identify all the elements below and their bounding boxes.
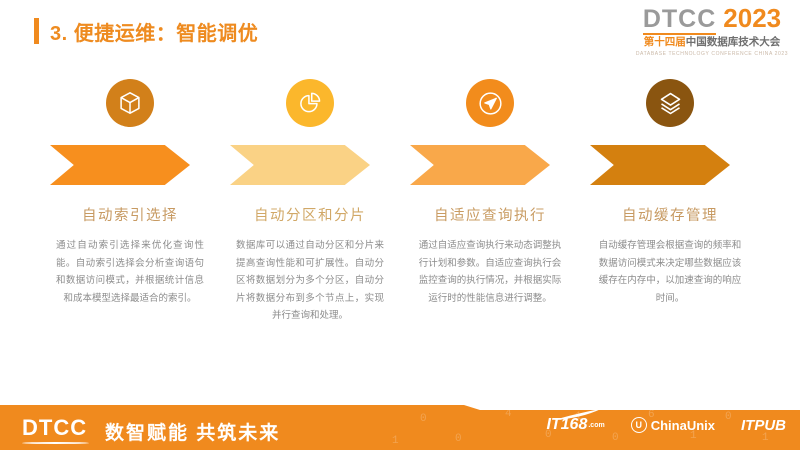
footer-notch	[0, 405, 800, 410]
title-accent-bar	[34, 18, 39, 44]
chinaunix-logo-text: ChinaUnix	[651, 418, 715, 433]
feature-column: 自动缓存管理 自动缓存管理会根据查询的频率和数据访问模式来决定哪些数据应该缓存在…	[590, 72, 750, 325]
chevron-container	[230, 134, 390, 196]
cube-icon	[106, 79, 154, 127]
conference-year: 2023	[723, 5, 781, 31]
paper-plane-icon	[466, 79, 514, 127]
footer-decor-digit: 1	[392, 435, 399, 447]
it168-logo[interactable]: IT168 .com	[546, 416, 604, 434]
chevron-arrow	[590, 145, 730, 185]
slide-root: 3. 便捷运维：智能调优 DTCC 2023 第十四届中国数据库技术大会 DAT…	[0, 0, 800, 450]
feature-body: 通过自动索引选择来优化查询性能。自动索引选择会分析查询语句和数据访问模式，并根据…	[50, 237, 210, 307]
footer-slogan: 数智赋能 共筑未来	[105, 418, 280, 445]
chevron-arrow	[50, 145, 190, 185]
conference-subtitle-prefix: 第十四届	[644, 36, 686, 48]
it168-swoosh-icon	[554, 409, 602, 421]
feature-title: 自动缓存管理	[590, 204, 750, 225]
chevron-container	[410, 134, 570, 196]
icon-container	[50, 72, 210, 134]
feature-body: 数据库可以通过自动分区和分片来提高查询性能和可扩展性。自动分区将数据划分为多个分…	[230, 237, 390, 325]
footer-brand: DTCC	[22, 417, 87, 439]
conference-logo: DTCC 2023 第十四届中国数据库技术大会 DATABASE TECHNOL…	[632, 5, 792, 57]
feature-columns: 自动索引选择 通过自动索引选择来优化查询性能。自动索引选择会分析查询语句和数据访…	[0, 72, 800, 325]
footer-decor-digit: 0	[420, 413, 427, 425]
conference-subtitle: 第十四届中国数据库技术大会	[632, 37, 792, 49]
conference-subtitle-main: 中国数据库技术大会	[686, 36, 781, 48]
chevron-arrow	[230, 145, 370, 185]
conference-english-subtitle: DATABASE TECHNOLOGY CONFERENCE CHINA 202…	[632, 51, 792, 57]
feature-title: 自动索引选择	[50, 204, 210, 225]
it168-logo-suffix: .com	[588, 422, 604, 429]
conference-brand: DTCC	[643, 7, 716, 32]
feature-body: 通过自适应查询执行来动态调整执行计划和参数。自适应查询执行会监控查询的执行情况，…	[410, 237, 570, 307]
icon-container	[410, 72, 570, 134]
conference-logo-main: DTCC 2023	[632, 5, 792, 32]
chevron-container	[590, 134, 750, 196]
feature-title: 自动分区和分片	[230, 204, 390, 225]
page-title-text: 3. 便捷运维：智能调优	[50, 17, 258, 46]
page-title: 3. 便捷运维：智能调优	[34, 16, 258, 46]
itpub-logo[interactable]: ITPUB	[741, 417, 786, 434]
sponsor-logos: IT168 .com U ChinaUnix ITPUB	[546, 416, 786, 434]
chinaunix-logo[interactable]: U ChinaUnix	[631, 417, 715, 433]
chevron-container	[50, 134, 210, 196]
footer-bar: 40106101001 DTCC 数智赋能 共筑未来 IT168 .com U …	[0, 405, 800, 450]
feature-column: 自动分区和分片 数据库可以通过自动分区和分片来提高查询性能和可扩展性。自动分区将…	[230, 72, 390, 325]
itpub-logo-text: ITPUB	[741, 417, 786, 434]
layers-icon	[646, 79, 694, 127]
chevron-arrow	[410, 145, 550, 185]
icon-container	[230, 72, 390, 134]
feature-column: 自适应查询执行 通过自适应查询执行来动态调整执行计划和参数。自适应查询执行会监控…	[410, 72, 570, 325]
chinaunix-mark-icon: U	[631, 417, 647, 433]
footer-decor-digit: 0	[455, 433, 462, 445]
feature-column: 自动索引选择 通过自动索引选择来优化查询性能。自动索引选择会分析查询语句和数据访…	[50, 72, 210, 325]
feature-body: 自动缓存管理会根据查询的频率和数据访问模式来决定哪些数据应该缓存在内存中，以加速…	[590, 237, 750, 307]
pie-chart-icon	[286, 79, 334, 127]
icon-container	[590, 72, 750, 134]
feature-title: 自适应查询执行	[410, 204, 570, 225]
